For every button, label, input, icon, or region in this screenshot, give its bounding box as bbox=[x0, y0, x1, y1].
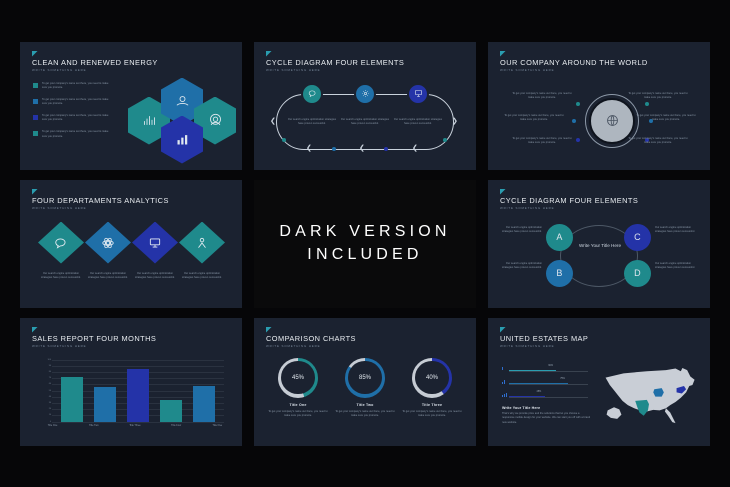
slide-comparison-charts[interactable]: COMPARISON CHARTS WRITE SOMETHING HERE 4… bbox=[254, 318, 476, 446]
x-axis-tick-label: Title Three bbox=[124, 424, 146, 427]
bar-chart: 1009080706050403020100 bbox=[44, 360, 224, 422]
signal-bars-icon bbox=[502, 367, 503, 370]
progress-row-3: 45% bbox=[502, 390, 588, 403]
slide-dark-version-included[interactable]: DARK VERSION INCLUDED bbox=[254, 180, 476, 308]
donut-text: To get your company's name out there, yo… bbox=[335, 410, 395, 419]
y-axis-tick-label: 10 bbox=[44, 414, 51, 416]
y-axis-tick-label: 70 bbox=[44, 377, 51, 379]
list-item: To get your company's name out there, yo… bbox=[33, 98, 111, 107]
radial-text-4: To get your company's name out there, yo… bbox=[636, 114, 696, 123]
gear-icon bbox=[361, 89, 370, 98]
chat-idea-icon bbox=[308, 89, 317, 98]
donut-group: 45% Title One To get your company's name… bbox=[268, 358, 462, 419]
abcd-node-b[interactable]: B bbox=[546, 260, 573, 287]
donut-chart-3: 40% bbox=[412, 358, 452, 398]
diamond-atom[interactable] bbox=[85, 222, 131, 264]
globe-network-icon bbox=[604, 112, 621, 129]
slide-title: SALES REPORT FOUR MONTHS bbox=[32, 334, 156, 343]
cycle-arrow-end-left: ❮ bbox=[270, 118, 276, 125]
slide-company-around-world[interactable]: OUR COMPANY AROUND THE WORLD WRITE SOMET… bbox=[488, 42, 710, 170]
banner-line-1: DARK VERSION bbox=[279, 223, 450, 241]
diamond-chat[interactable] bbox=[38, 222, 84, 264]
people-network-icon bbox=[208, 113, 223, 128]
x-axis-tick-label: Title Four bbox=[165, 424, 187, 427]
list-item: To get your company's name out there, yo… bbox=[33, 130, 111, 139]
radial-text-5: To get your company's name out there, yo… bbox=[512, 137, 572, 146]
progress-row-2: 75% bbox=[502, 377, 588, 390]
cycle-text-2: Our search engine optimization strategie… bbox=[338, 118, 392, 127]
slide-title: CYCLE DIAGRAM FOUR ELEMENTS bbox=[266, 58, 404, 67]
bullet-text: To get your company's name out there, yo… bbox=[42, 130, 111, 139]
growth-icon bbox=[142, 113, 157, 128]
bullet-square-icon bbox=[33, 83, 38, 88]
florida-shape bbox=[665, 408, 676, 423]
y-axis-tick-label: 80 bbox=[44, 371, 51, 373]
bar bbox=[127, 369, 149, 422]
hand-leaf-icon bbox=[175, 94, 190, 109]
slide-cycle-abcd[interactable]: CYCLE DIAGRAM FOUR ELEMENTS WRITE SOMETH… bbox=[488, 180, 710, 308]
map-caption-title: Write Your Title Here bbox=[502, 406, 592, 410]
abcd-node-c[interactable]: C bbox=[624, 224, 651, 251]
accent-flag-icon bbox=[500, 51, 506, 57]
bullet-text: To get your company's name out there, yo… bbox=[42, 98, 111, 107]
x-axis-tick-label: Title Five bbox=[206, 424, 228, 427]
progress-label: 45% bbox=[537, 391, 542, 393]
slide-subtitle: WRITE SOMETHING HERE bbox=[500, 344, 554, 348]
alaska-shape bbox=[607, 407, 622, 419]
bullet-text: To get your company's name out there, yo… bbox=[42, 82, 111, 91]
donut-chart-1: 45% bbox=[278, 358, 318, 398]
donut-title: Title One bbox=[289, 403, 306, 407]
accent-flag-icon bbox=[32, 327, 38, 333]
slide-sales-report-four-months[interactable]: SALES REPORT FOUR MONTHS WRITE SOMETHING… bbox=[20, 318, 242, 446]
cycle-arrow-left-1: ❮ bbox=[306, 145, 312, 152]
signal-bars-icon bbox=[502, 380, 505, 384]
cycle-marker-steel bbox=[332, 147, 336, 151]
diamond-caption-4: Our search engine optimization strategie… bbox=[179, 272, 225, 281]
atom-icon bbox=[101, 236, 115, 250]
donut-value: 40% bbox=[412, 358, 452, 398]
gridline bbox=[52, 422, 224, 423]
chart-x-axis-labels: Title OneTitle TwoTitle ThreeTitle FourT… bbox=[32, 424, 238, 427]
cycle-arrow-end-right: ❯ bbox=[452, 118, 458, 125]
donut-value: 45% bbox=[278, 358, 318, 398]
diamond-person[interactable] bbox=[179, 222, 225, 264]
y-axis-tick-label: 100 bbox=[44, 359, 51, 361]
abcd-text-a: Our search engine optimization strategie… bbox=[500, 226, 542, 235]
y-axis-tick-label: 60 bbox=[44, 383, 51, 385]
slide-title: CYCLE DIAGRAM FOUR ELEMENTS bbox=[500, 196, 638, 205]
progress-row-1: 60% bbox=[502, 364, 588, 377]
abcd-center-title: Write Your Title Here bbox=[576, 242, 624, 249]
cycle-marker-blue bbox=[384, 147, 388, 151]
y-axis-tick-label: 90 bbox=[44, 365, 51, 367]
slide-clean-renewed-energy[interactable]: CLEAN AND RENEWED ENERGY WRITE SOMETHING… bbox=[20, 42, 242, 170]
donut-title: Title Three bbox=[422, 403, 442, 407]
accent-flag-icon bbox=[266, 51, 272, 57]
abcd-text-c: Our search engine optimization strategie… bbox=[655, 226, 699, 235]
slide-title: CLEAN AND RENEWED ENERGY bbox=[32, 58, 158, 67]
bar-column[interactable] bbox=[193, 386, 215, 421]
bullet-square-icon bbox=[33, 99, 38, 104]
slide-subtitle: WRITE SOMETHING HERE bbox=[266, 344, 320, 348]
slide-subtitle: WRITE SOMETHING HERE bbox=[266, 68, 320, 72]
donut-title: Title Two bbox=[356, 403, 373, 407]
radial-node-2 bbox=[645, 102, 649, 106]
cycle-text-3: Our search engine optimization strategie… bbox=[391, 118, 445, 127]
bar-column[interactable] bbox=[94, 387, 116, 421]
donut-cell-3[interactable]: 40% Title Three To get your company's na… bbox=[402, 358, 462, 419]
y-axis-tick-label: 20 bbox=[44, 408, 51, 410]
progress-fill bbox=[509, 370, 556, 372]
diamond-caption-1: Our search engine optimization strategie… bbox=[38, 272, 84, 281]
progress-fill bbox=[509, 396, 545, 398]
slide-title: COMPARISON CHARTS bbox=[266, 334, 356, 343]
progress-fill bbox=[509, 383, 568, 385]
cycle-arrow-left-2: ❮ bbox=[359, 145, 365, 152]
bar bbox=[61, 377, 83, 422]
radial-node-5 bbox=[576, 138, 580, 142]
x-axis-tick-label: Title Two bbox=[83, 424, 105, 427]
slide-title: UNITED ESTATES MAP bbox=[500, 334, 588, 343]
donut-value: 85% bbox=[345, 358, 385, 398]
y-axis-tick-label: 0 bbox=[44, 421, 51, 423]
presentation-icon bbox=[148, 236, 162, 250]
bullet-square-icon bbox=[33, 131, 38, 136]
chat-idea-icon bbox=[54, 236, 68, 250]
cycle-arrow-left-3: ❮ bbox=[412, 145, 418, 152]
cycle-node-2[interactable] bbox=[354, 83, 376, 105]
bullet-text: To get your company's name out there, yo… bbox=[42, 114, 111, 123]
slide-subtitle: WRITE SOMETHING HERE bbox=[32, 206, 86, 210]
bar-column[interactable] bbox=[61, 377, 83, 422]
diamond-presentation[interactable] bbox=[132, 222, 178, 264]
bar bbox=[94, 387, 116, 421]
abcd-text-b: Our search engine optimization strategie… bbox=[500, 262, 542, 271]
chart-bars bbox=[56, 360, 220, 422]
slide-cycle-diagram-four-elements[interactable]: CYCLE DIAGRAM FOUR ELEMENTS WRITE SOMETH… bbox=[254, 42, 476, 170]
map-caption: Write Your Title Here That's why we prov… bbox=[502, 406, 592, 426]
slide-subtitle: WRITE SOMETHING HERE bbox=[500, 206, 554, 210]
y-axis-tick-label: 30 bbox=[44, 402, 51, 404]
accent-flag-icon bbox=[500, 327, 506, 333]
slide-title: FOUR DEPARTAMENTS ANALYTICS bbox=[32, 196, 169, 205]
abcd-text-d: Our search engine optimization strategie… bbox=[655, 262, 699, 271]
slide-title: OUR COMPANY AROUND THE WORLD bbox=[500, 58, 648, 67]
donut-chart-2: 85% bbox=[345, 358, 385, 398]
progress-label: 60% bbox=[548, 365, 553, 367]
diamond-row bbox=[38, 222, 226, 264]
cycle-text-1: Our search engine optimization strategie… bbox=[285, 118, 339, 127]
slide-subtitle: WRITE SOMETHING HERE bbox=[32, 68, 86, 72]
accent-flag-icon bbox=[266, 327, 272, 333]
cycle-marker-teal-2 bbox=[443, 138, 447, 142]
cycle-marker-teal bbox=[282, 138, 286, 142]
bullet-list: To get your company's name out there, yo… bbox=[33, 82, 111, 147]
presentation-icon bbox=[414, 89, 423, 98]
accent-flag-icon bbox=[32, 51, 38, 57]
cycle-track: Our search engine optimization strategie… bbox=[276, 94, 454, 150]
slide-deck-grid: CLEAN AND RENEWED ENERGY WRITE SOMETHING… bbox=[0, 0, 730, 487]
bullet-square-icon bbox=[33, 115, 38, 120]
donut-cell-2[interactable]: 85% Title Two To get your company's name… bbox=[335, 358, 395, 419]
cycle-node-3[interactable] bbox=[407, 83, 429, 105]
progress-label: 75% bbox=[560, 378, 565, 380]
signal-bars-icon bbox=[502, 393, 507, 398]
accent-flag-icon bbox=[500, 189, 506, 195]
bar bbox=[193, 386, 215, 421]
donut-text: To get your company's name out there, yo… bbox=[268, 410, 328, 419]
united-states-map[interactable] bbox=[596, 354, 702, 434]
map-caption-body: That's why we provide price and the solu… bbox=[502, 412, 592, 425]
missouri-state bbox=[653, 388, 664, 396]
person-idea-icon bbox=[195, 236, 209, 250]
donut-text: To get your company's name out there, yo… bbox=[402, 410, 462, 419]
bar-column[interactable] bbox=[160, 400, 182, 422]
abcd-node-a[interactable]: A bbox=[546, 224, 573, 251]
y-axis-tick-label: 40 bbox=[44, 396, 51, 398]
list-item: To get your company's name out there, yo… bbox=[33, 82, 111, 91]
diamond-caption-3: Our search engine optimization strategie… bbox=[132, 272, 178, 281]
radial-text-1: To get your company's name out there, yo… bbox=[512, 92, 572, 101]
x-axis-tick-label: Title One bbox=[42, 424, 64, 427]
donut-cell-1[interactable]: 45% Title One To get your company's name… bbox=[268, 358, 328, 419]
radial-text-2: To get your company's name out there, yo… bbox=[628, 92, 688, 101]
cycle-node-1[interactable] bbox=[301, 83, 323, 105]
progress-bar-group: 60% 75% 45% bbox=[502, 364, 588, 403]
slide-four-departaments-analytics[interactable]: FOUR DEPARTAMENTS ANALYTICS WRITE SOMETH… bbox=[20, 180, 242, 308]
dark-version-banner: DARK VERSION INCLUDED bbox=[254, 180, 476, 308]
banner-line-2: INCLUDED bbox=[307, 246, 422, 264]
radial-text-3: To get your company's name out there, yo… bbox=[504, 114, 564, 123]
diamond-caption-2: Our search engine optimization strategie… bbox=[85, 272, 131, 281]
radial-node-3 bbox=[572, 119, 576, 123]
slide-subtitle: WRITE SOMETHING HERE bbox=[500, 68, 554, 72]
bar-column[interactable] bbox=[127, 369, 149, 422]
us-map-shape bbox=[596, 354, 702, 434]
radial-node-1 bbox=[576, 102, 580, 106]
slide-united-estates-map[interactable]: UNITED ESTATES MAP WRITE SOMETHING HERE … bbox=[488, 318, 710, 446]
abcd-node-d[interactable]: D bbox=[624, 260, 651, 287]
accent-flag-icon bbox=[32, 189, 38, 195]
bar bbox=[160, 400, 182, 422]
list-item: To get your company's name out there, yo… bbox=[33, 114, 111, 123]
hexagon-cluster bbox=[128, 78, 236, 162]
y-axis-tick-label: 50 bbox=[44, 390, 51, 392]
bar-chart-icon bbox=[175, 132, 190, 147]
slide-subtitle: WRITE SOMETHING HERE bbox=[32, 344, 86, 348]
radial-text-6: To get your company's name out there, yo… bbox=[628, 137, 688, 146]
